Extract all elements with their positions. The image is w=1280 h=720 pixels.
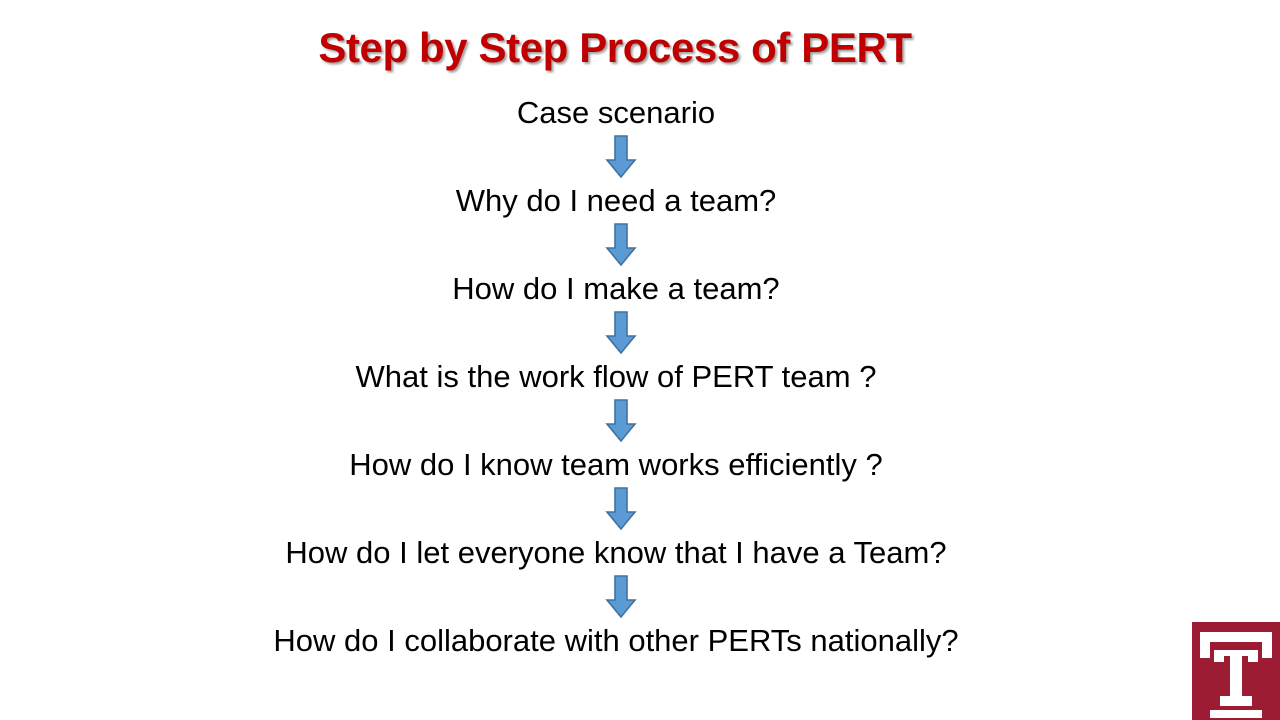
flow-step-3: How do I make a team? (0, 268, 1232, 309)
down-arrow-icon (604, 311, 638, 355)
flow-step-4: What is the work flow of PERT team ? (0, 356, 1232, 397)
temple-university-t-logo (1192, 622, 1280, 720)
flow-connector-1 (0, 133, 1232, 180)
down-arrow-icon (604, 135, 638, 179)
flow-connector-6 (0, 573, 1232, 620)
slide-canvas: Step by Step Process of PERT Case scenar… (0, 0, 1280, 720)
flow-step-7: How do I collaborate with other PERTs na… (0, 620, 1232, 661)
flow-connector-5 (0, 485, 1232, 532)
flow-step-5: How do I know team works efficiently ? (0, 444, 1232, 485)
flow-connector-4 (0, 397, 1232, 444)
down-arrow-icon (604, 487, 638, 531)
flow-connector-2 (0, 221, 1232, 268)
flow-step-6: How do I let everyone know that I have a… (0, 532, 1232, 573)
down-arrow-icon (604, 399, 638, 443)
page-title: Step by Step Process of PERT (0, 24, 1230, 72)
down-arrow-icon (604, 223, 638, 267)
down-arrow-icon (604, 575, 638, 619)
process-flow-diagram: Case scenario Why do I need a team? How … (0, 92, 1232, 661)
flow-connector-3 (0, 309, 1232, 356)
flow-step-2: Why do I need a team? (0, 180, 1232, 221)
flow-step-1: Case scenario (0, 92, 1232, 133)
